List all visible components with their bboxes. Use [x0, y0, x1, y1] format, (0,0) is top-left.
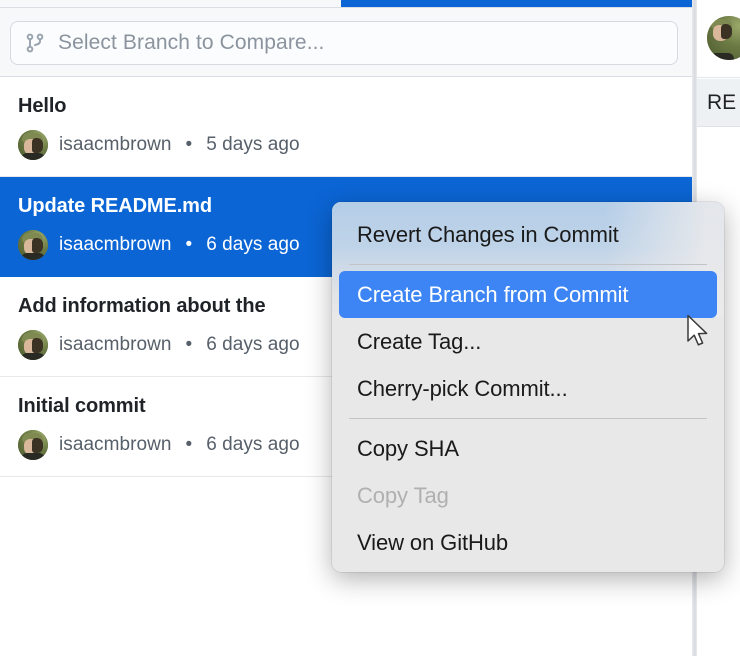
menu-item-view-on-github[interactable]: View on GitHub	[339, 519, 717, 566]
changed-file-name: RE	[707, 91, 736, 115]
commit-author: isaacmbrown	[59, 234, 171, 256]
app-window: Select Branch to Compare... Hello isaacm…	[0, 0, 740, 656]
menu-item-label: Cherry-pick Commit...	[357, 376, 568, 402]
meta-separator: •	[182, 434, 195, 456]
commit-detail-summary	[697, 0, 740, 78]
changed-file-header[interactable]: RE	[697, 79, 740, 127]
commit-time: 6 days ago	[206, 234, 299, 256]
menu-item-cherry-pick[interactable]: Cherry-pick Commit...	[339, 365, 717, 412]
commit-row[interactable]: Hello isaacmbrown • 5 days ago	[0, 77, 692, 177]
branch-compare-bar: Select Branch to Compare...	[0, 8, 692, 77]
branch-compare-field[interactable]: Select Branch to Compare...	[10, 21, 678, 65]
meta-separator: •	[182, 134, 195, 156]
menu-item-create-branch[interactable]: Create Branch from Commit	[339, 271, 717, 318]
menu-item-label: Copy Tag	[357, 483, 449, 509]
avatar	[707, 16, 740, 60]
avatar	[18, 230, 48, 260]
commit-time: 6 days ago	[206, 334, 299, 356]
branch-compare-placeholder: Select Branch to Compare...	[58, 31, 325, 55]
menu-separator	[349, 418, 707, 419]
avatar	[18, 130, 48, 160]
top-strip	[0, 0, 740, 8]
avatar	[18, 430, 48, 460]
commit-context-menu[interactable]: Revert Changes in Commit Create Branch f…	[332, 202, 724, 572]
commit-time: 5 days ago	[206, 134, 299, 156]
menu-item-create-tag[interactable]: Create Tag...	[339, 318, 717, 365]
meta-separator: •	[182, 334, 195, 356]
commit-author: isaacmbrown	[59, 134, 171, 156]
menu-item-label: View on GitHub	[357, 530, 508, 556]
git-branch-icon	[25, 32, 45, 54]
menu-item-label: Copy SHA	[357, 436, 459, 462]
commit-time: 6 days ago	[206, 434, 299, 456]
menu-separator	[349, 264, 707, 265]
menu-item-revert-changes[interactable]: Revert Changes in Commit	[339, 211, 717, 258]
menu-item-label: Revert Changes in Commit	[357, 222, 619, 248]
commit-author: isaacmbrown	[59, 434, 171, 456]
menu-item-copy-tag: Copy Tag	[339, 472, 717, 519]
menu-item-label: Create Tag...	[357, 329, 481, 355]
menu-item-copy-sha[interactable]: Copy SHA	[339, 425, 717, 472]
meta-separator: •	[182, 234, 195, 256]
avatar	[18, 330, 48, 360]
commit-author: isaacmbrown	[59, 334, 171, 356]
commit-meta: isaacmbrown • 5 days ago	[18, 130, 692, 160]
commit-title: Hello	[18, 94, 692, 118]
menu-item-label: Create Branch from Commit	[357, 282, 628, 308]
